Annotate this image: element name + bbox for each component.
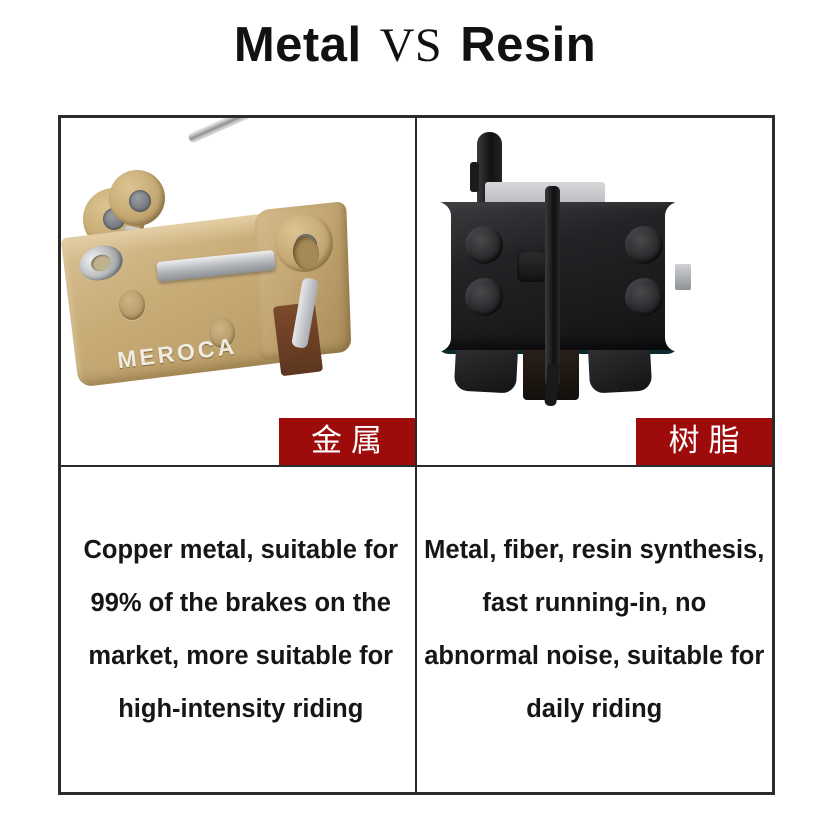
resin-pad-prong-left-icon [453,342,517,393]
resin-pad-prong-right-icon [587,342,651,393]
resin-description-text: Metal, fiber, resin synthesis, fast runn… [417,524,773,736]
title-vs: VS [376,19,446,72]
resin-pad-dimple-top-right-icon [625,226,663,264]
metal-pad-rivet-left-icon [119,290,145,320]
metal-pad-ear-mid-icon [109,170,165,226]
title-resin: Resin [460,18,596,72]
badge-resin: 树脂 [636,418,772,465]
resin-pad-dimple-bottom-left-icon [465,278,503,316]
metal-description-cell: Copper metal, suitable for 99% of the br… [61,467,417,792]
resin-pad-side-tab-icon [675,264,691,290]
metal-brake-pad-photo: MEROCA [61,118,415,465]
resin-pad-center-tab-icon [517,250,547,282]
resin-brake-pad-photo [417,118,773,465]
resin-description-cell: Metal, fiber, resin synthesis, fast runn… [417,467,773,792]
resin-pad-dimple-top-left-icon [465,226,503,264]
resin-pad-spring-band-icon [545,186,560,386]
metal-pad-cotter-pin-icon [187,118,291,143]
resin-pad-notch-left-icon [417,202,451,352]
metal-pad-image-cell: MEROCA 金属 [61,118,417,467]
resin-pad-image-cell: 树脂 [417,118,773,467]
page-title: Metal VS Resin [0,14,830,77]
badge-metal: 金属 [279,418,415,465]
comparison-table: MEROCA 金属 树脂 Copper metal, suitabl [58,115,775,795]
resin-pad-dimple-bottom-right-icon [625,278,663,316]
metal-description-text: Copper metal, suitable for 99% of the br… [61,524,415,736]
title-metal: Metal [234,18,362,72]
